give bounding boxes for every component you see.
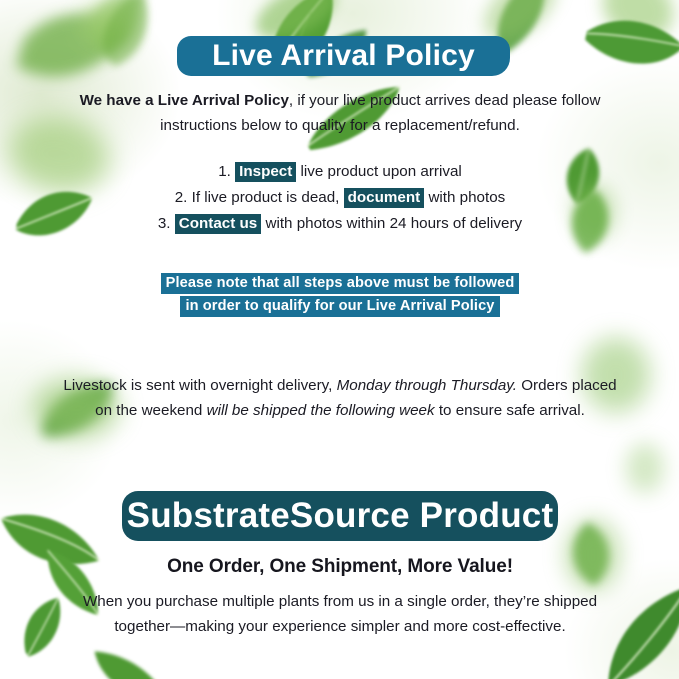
list-item: 3. Contact us with photos within 24 hour… [60,215,620,232]
leaf-icon [83,0,139,48]
substratesource-product-banner: SubstrateSource Product [122,491,558,541]
steps-list: 1. Inspect live product upon arrival 2. … [60,163,620,241]
live-arrival-policy-title: Live Arrival Policy [212,39,475,73]
livestock-line1-italic: Monday through Thursday. [337,377,517,394]
policy-note: Please note that all steps above must be… [60,274,620,320]
livestock-line2-italic: will be shipped the following week [207,402,435,419]
step-number: 3. [158,215,171,232]
list-item: 2. If live product is dead, document wit… [60,189,620,206]
bottom-subheading: One Order, One Shipment, More Value! [60,556,620,578]
bottom-paragraph: When you purchase multiple plants from u… [60,590,620,639]
note-line-2: in order to qualify for our Live Arrival… [180,296,499,317]
note-line-2-wrap: in order to qualify for our Live Arrival… [60,297,620,315]
leaf-icon [573,0,679,98]
step-highlight: Contact us [175,214,261,234]
step-after: with photos within 24 hours of delivery [265,215,522,232]
livestock-line1-plain: Livestock is sent with overnight deliver… [63,377,332,394]
note-line-1: Please note that all steps above must be… [161,273,520,294]
note-line-1-wrap: Please note that all steps above must be… [60,274,620,292]
leaf-icon [557,517,626,591]
livestock-paragraph: Livestock is sent with overnight deliver… [60,374,620,423]
step-highlight: Inspect [235,162,296,182]
leaf-icon [84,641,178,679]
step-after: live product upon arrival [301,163,462,180]
intro-paragraph: We have a Live Arrival Policy, if your l… [60,89,620,138]
substratesource-product-title: SubstrateSource Product [127,496,554,536]
leaf-icon [69,0,187,85]
leaf-icon [618,438,672,498]
livestock-line3: to ensure safe arrival. [439,402,585,419]
leaf-icon [556,514,630,596]
step-number: 2. [175,189,188,206]
live-arrival-policy-banner: Live Arrival Policy [177,36,510,76]
intro-bold-lead: We have a Live Arrival Policy [80,92,289,109]
leaf-icon [72,0,136,62]
policy-graphic: Live Arrival Policy We have a Live Arriv… [0,0,679,679]
step-before: If live product is dead, [192,189,340,206]
leaf-icon [74,0,162,65]
step-number: 1. [218,163,231,180]
step-after: with photos [428,189,505,206]
list-item: 1. Inspect live product upon arrival [60,163,620,180]
step-highlight: document [344,188,425,208]
leaf-icon [575,0,679,68]
